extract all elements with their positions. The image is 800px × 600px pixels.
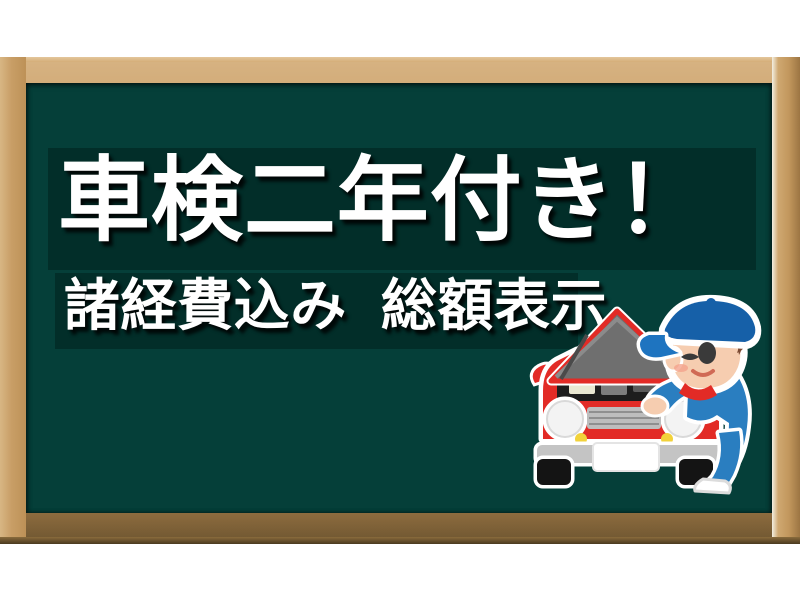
chalkboard: 車検二年付き！ 諸経費込み総額表示 xyxy=(26,83,772,513)
frame-top-highlight xyxy=(0,57,800,62)
mechanic-eye-open xyxy=(698,342,716,364)
car-license-plate xyxy=(593,443,659,471)
frame-bottom-shadow xyxy=(0,537,800,544)
subline-left-text: 諸経費込み xyxy=(64,274,347,339)
frame-left-edge xyxy=(0,57,26,544)
mechanic-cheek-blush xyxy=(674,364,688,372)
mechanic-with-open-hood-car-illustration xyxy=(521,273,771,503)
mechanic-cap-button xyxy=(706,298,716,308)
car-tire-left xyxy=(537,459,571,485)
frame-right-edge xyxy=(772,57,800,544)
mechanic-hand xyxy=(642,396,668,416)
banner-canvas: 車検二年付き！ 諸経費込み総額表示 xyxy=(0,0,800,600)
headline-text: 車検二年付き！ xyxy=(58,155,708,247)
mechanic-shoe xyxy=(695,479,731,493)
car-headlight-left xyxy=(547,401,583,437)
